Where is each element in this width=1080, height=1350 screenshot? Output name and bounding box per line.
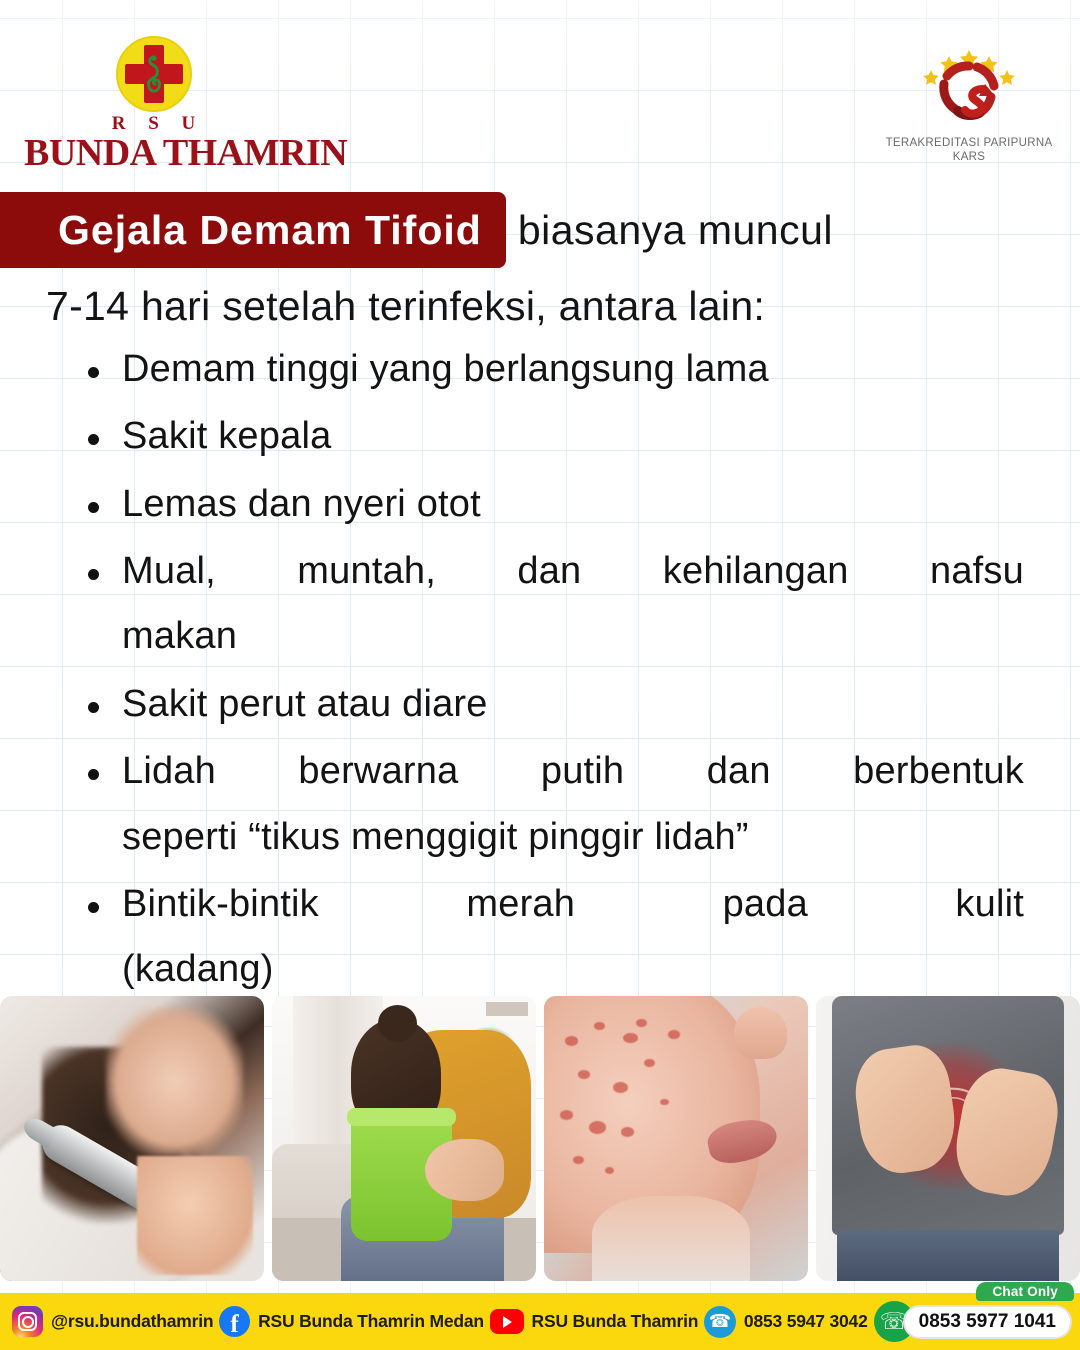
symptom-item: Sakit kepala (80, 404, 1024, 469)
symptom-item: Mual, muntah, dan kehilangan nafsu makan (80, 539, 1024, 670)
headline-block: Gejala Demam Tifoid biasanya muncul 7-14… (0, 192, 1034, 329)
symptom-line: Bintik-bintik merah pada kulit (122, 872, 1024, 937)
symptom-line: Lidah berwarna putih dan berbentuk (122, 739, 1024, 804)
instagram-contact[interactable]: @rsu.bundathamrin (12, 1306, 213, 1337)
header: R S U BUNDA THAMRIN (0, 0, 1080, 186)
symptom-item: Lidah berwarna putih dan berbentuk seper… (80, 739, 1024, 870)
facebook-contact[interactable]: f RSU Bunda Thamrin Medan (219, 1306, 484, 1337)
youtube-contact[interactable]: RSU Bunda Thamrin (490, 1309, 699, 1334)
facebook-name: RSU Bunda Thamrin Medan (258, 1311, 484, 1332)
instagram-handle: @rsu.bundathamrin (51, 1311, 213, 1332)
photo-vomiting-bucket (272, 996, 536, 1281)
symptom-item: Lemas dan nyeri otot (80, 472, 1024, 537)
word: dan (517, 539, 581, 604)
kars-caption-line2: KARS (884, 150, 1054, 164)
photo-fever-thermometer (0, 996, 264, 1281)
photo-skin-rash (544, 996, 808, 1281)
word: Bintik-bintik (122, 872, 319, 937)
caduceus-serpent-icon (146, 55, 163, 93)
hospital-logo: R S U BUNDA THAMRIN (24, 36, 284, 172)
facebook-icon[interactable]: f (219, 1306, 250, 1337)
phone-number: 0853 5947 3042 (744, 1311, 868, 1332)
whatsapp-number: 0853 5977 1041 (903, 1305, 1072, 1339)
word: Mual, (122, 539, 216, 604)
symptom-item: Demam tinggi yang berlangsung lama (80, 337, 1024, 402)
symptom-line: Mual, muntah, dan kehilangan nafsu (122, 539, 1024, 604)
word: putih (541, 739, 624, 804)
word: berbentuk (853, 739, 1024, 804)
symptom-item: Sakit perut atau diare (80, 672, 1024, 737)
headline-line-2: 7-14 hari setelah terinfeksi, antara lai… (0, 284, 1034, 329)
word: pada (723, 872, 808, 937)
symptom-line: makan (122, 604, 1024, 669)
phone-icon[interactable]: ☎ (704, 1306, 736, 1338)
instagram-icon[interactable] (12, 1306, 43, 1337)
word: kulit (955, 872, 1024, 937)
symptom-line: seperti “tikus menggigit pinggir lidah” (122, 805, 1024, 870)
word: merah (466, 872, 575, 937)
phone-contact[interactable]: ☎ 0853 5947 3042 (704, 1306, 868, 1338)
kars-caption: TERAKREDITASI PARIPURNA KARS (884, 136, 1054, 165)
word: dan (707, 739, 771, 804)
logo-hospital-name: BUNDA THAMRIN (24, 134, 284, 172)
youtube-icon[interactable] (490, 1309, 524, 1334)
youtube-name: RSU Bunda Thamrin (532, 1311, 699, 1332)
medical-cross-caduceus-icon (116, 36, 192, 112)
word: muntah, (297, 539, 436, 604)
word: kehilangan (663, 539, 849, 604)
kars-accreditation-logo: TERAKREDITASI PARIPURNA KARS (884, 34, 1054, 165)
word: nafsu (930, 539, 1024, 604)
word: Lidah (122, 739, 216, 804)
kars-q-logo-icon (911, 34, 1027, 134)
word: berwarna (298, 739, 458, 804)
headline-rest: biasanya muncul (518, 192, 833, 268)
symptom-line: (kadang) (122, 937, 1024, 1002)
photo-abdominal-pain (816, 996, 1080, 1281)
logo-prefix: R S U (24, 114, 284, 133)
headline-badge: Gejala Demam Tifoid (0, 192, 506, 268)
contact-footer: @rsu.bundathamrin f RSU Bunda Thamrin Me… (0, 1293, 1080, 1350)
whatsapp-contact[interactable]: Chat Only ☏ 0853 5977 1041 (874, 1301, 1072, 1342)
symptom-item: Bintik-bintik merah pada kulit (kadang) (80, 872, 1024, 1003)
photo-strip (0, 996, 1080, 1281)
chat-only-badge: Chat Only (976, 1282, 1074, 1301)
headline-line-1: Gejala Demam Tifoid biasanya muncul (0, 192, 1034, 268)
symptom-list: Demam tinggi yang berlangsung lama Sakit… (80, 337, 1024, 1005)
kars-caption-line1: TERAKREDITASI PARIPURNA (884, 136, 1054, 150)
